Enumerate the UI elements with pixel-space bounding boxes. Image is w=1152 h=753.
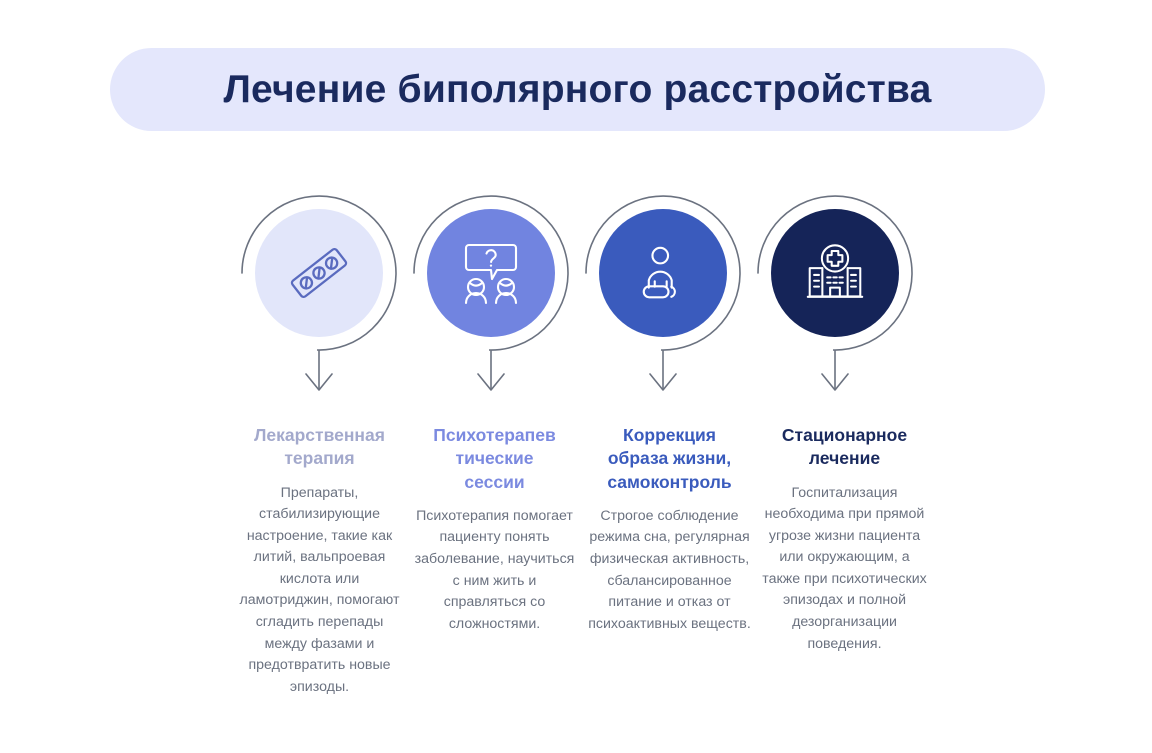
- step-column-1: Лекарственная терапия Препараты, стабили…: [232, 424, 407, 698]
- step-circles-row: [232, 186, 922, 396]
- step-heading-4: Стационарное лечение: [762, 424, 927, 471]
- page-title: Лечение биполярного расстройства: [223, 68, 931, 112]
- step-circle-3: [599, 209, 727, 337]
- title-banner: Лечение биполярного расстройства: [110, 48, 1045, 131]
- step-body-3: Строгое соблюдение режима сна, регулярна…: [587, 506, 752, 635]
- step-body-4: Госпитализация необходима при прямой угр…: [762, 483, 927, 656]
- pill-blister-pack-icon: [283, 237, 355, 309]
- speech-bubble-question-two-people-icon: [455, 237, 527, 309]
- hospital-building-cross-icon: [800, 238, 870, 308]
- meditating-person-icon: [630, 240, 696, 306]
- step-body-2: Психотерапия помогает пациенту понять за…: [412, 506, 577, 635]
- step-text-columns: Лекарственная терапия Препараты, стабили…: [232, 424, 932, 698]
- step-circle-1: [255, 209, 383, 337]
- step-node-4[interactable]: [748, 186, 923, 396]
- step-column-4: Стационарное лечение Госпитализация необ…: [757, 424, 932, 698]
- step-circle-2: [427, 209, 555, 337]
- step-heading-3: Коррекция образа жизни, самоконтроль: [587, 424, 752, 494]
- step-heading-1: Лекарственная терапия: [237, 424, 402, 471]
- step-node-2[interactable]: [404, 186, 579, 396]
- step-heading-2: Психотерапев тические сессии: [412, 424, 577, 494]
- step-circle-4: [771, 209, 899, 337]
- step-column-2: Психотерапев тические сессии Психотерапи…: [407, 424, 582, 698]
- infographic-page: Лечение биполярного расстройства: [0, 0, 1152, 753]
- step-column-3: Коррекция образа жизни, самоконтроль Стр…: [582, 424, 757, 698]
- step-body-1: Препараты, стабилизирующие настроение, т…: [237, 483, 402, 699]
- step-node-1[interactable]: [232, 186, 407, 396]
- step-node-3[interactable]: [576, 186, 751, 396]
